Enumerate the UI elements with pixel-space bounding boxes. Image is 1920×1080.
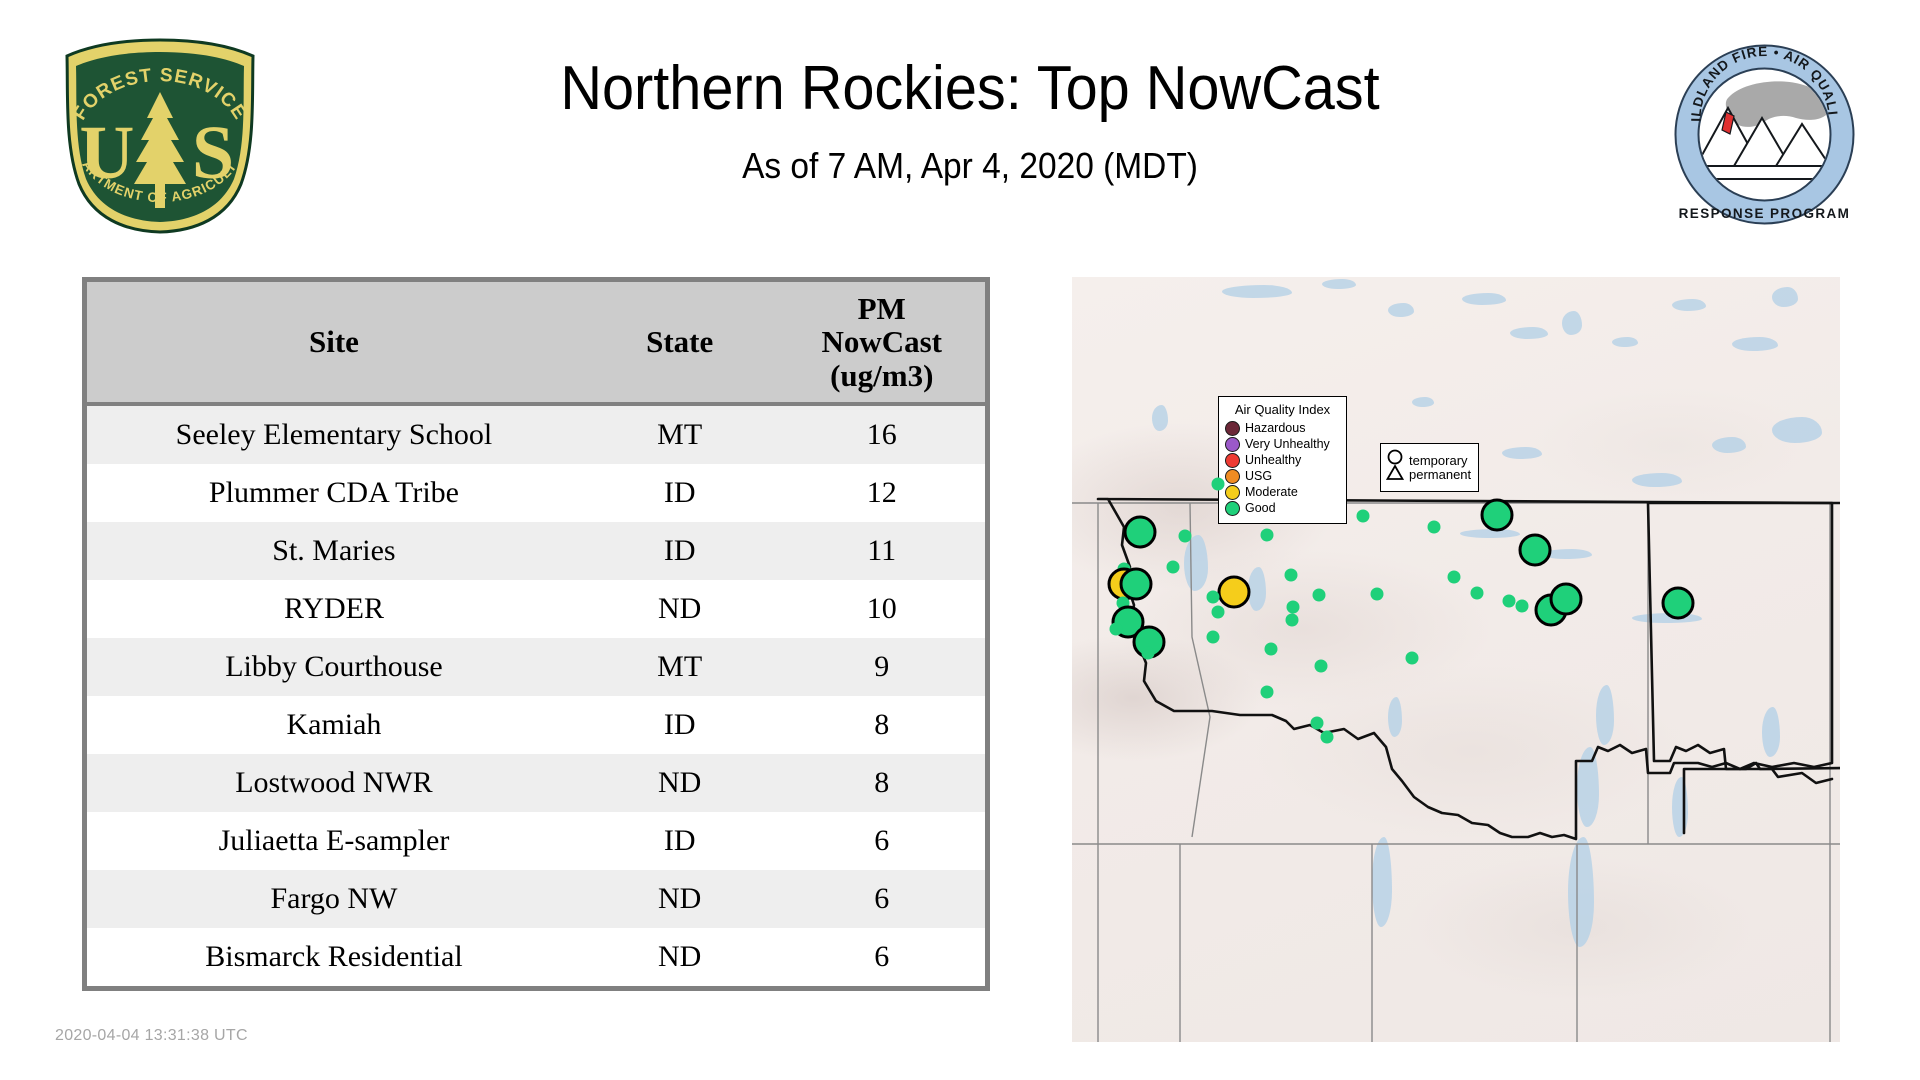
monitor-marker[interactable] bbox=[1212, 478, 1225, 491]
monitor-marker[interactable] bbox=[1448, 571, 1461, 584]
monitor-marker[interactable] bbox=[1261, 529, 1274, 542]
site-type-legend: temporary permanent bbox=[1380, 443, 1479, 492]
aqi-swatch-icon bbox=[1225, 469, 1240, 484]
site-cell: Bismarck Residential bbox=[87, 928, 581, 986]
monitor-marker[interactable] bbox=[1550, 583, 1583, 616]
aqi-legend: Air Quality Index HazardousVery Unhealth… bbox=[1218, 396, 1347, 524]
pm-nowcast-cell: 12 bbox=[778, 464, 985, 522]
monitor-marker[interactable] bbox=[1321, 731, 1334, 744]
table-row[interactable]: RYDERND10 bbox=[87, 580, 985, 638]
state-cell: ND bbox=[581, 928, 779, 986]
monitor-marker[interactable] bbox=[1179, 530, 1192, 543]
table-row[interactable]: Seeley Elementary SchoolMT16 bbox=[87, 404, 985, 464]
aqi-swatch-icon bbox=[1225, 485, 1240, 500]
aqi-legend-label: Moderate bbox=[1245, 485, 1298, 499]
table-row[interactable]: Libby CourthouseMT9 bbox=[87, 638, 985, 696]
monitor-marker[interactable] bbox=[1207, 591, 1220, 604]
column-header-site[interactable]: Site bbox=[87, 282, 581, 404]
site-cell: Lostwood NWR bbox=[87, 754, 581, 812]
aqi-swatch-icon bbox=[1225, 437, 1240, 452]
monitor-marker[interactable] bbox=[1315, 660, 1328, 673]
pm-nowcast-cell: 8 bbox=[778, 696, 985, 754]
table-row[interactable]: Lostwood NWRND8 bbox=[87, 754, 985, 812]
monitor-marker[interactable] bbox=[1519, 534, 1552, 567]
state-cell: ND bbox=[581, 580, 779, 638]
table-header-row: Site State PM NowCast (ug/m3) bbox=[87, 282, 985, 404]
aqi-legend-label: Hazardous bbox=[1245, 421, 1305, 435]
pm-nowcast-cell: 10 bbox=[778, 580, 985, 638]
page-header: FOREST SERVICE DEPARTMENT OF AGRICULTURE… bbox=[0, 0, 1920, 270]
pm-nowcast-cell: 9 bbox=[778, 638, 985, 696]
monitor-marker[interactable] bbox=[1287, 601, 1300, 614]
pm-nowcast-cell: 16 bbox=[778, 404, 985, 464]
table-body: Seeley Elementary SchoolMT16Plummer CDA … bbox=[87, 404, 985, 986]
svg-text:U: U bbox=[80, 111, 135, 195]
site-cell: Juliaetta E-sampler bbox=[87, 812, 581, 870]
table-header: Site State PM NowCast (ug/m3) bbox=[87, 282, 985, 404]
aqi-legend-item: USG bbox=[1225, 468, 1340, 484]
svg-text:S: S bbox=[192, 111, 234, 195]
triangle-outline-icon bbox=[1388, 466, 1403, 479]
aqi-legend-item: Unhealthy bbox=[1225, 452, 1340, 468]
state-cell: ND bbox=[581, 754, 779, 812]
pm-header-line-1: PM bbox=[782, 292, 981, 325]
monitor-marker[interactable] bbox=[1124, 516, 1157, 549]
aqi-legend-rows: HazardousVery UnhealthyUnhealthyUSGModer… bbox=[1225, 420, 1340, 516]
monitor-marker[interactable] bbox=[1481, 499, 1514, 532]
site-cell: St. Maries bbox=[87, 522, 581, 580]
monitor-marker[interactable] bbox=[1120, 568, 1153, 601]
state-boundaries bbox=[1072, 277, 1840, 1042]
monitor-marker[interactable] bbox=[1167, 561, 1180, 574]
state-cell: ID bbox=[581, 812, 779, 870]
monitor-marker[interactable] bbox=[1207, 631, 1220, 644]
aqi-legend-label: USG bbox=[1245, 469, 1272, 483]
monitor-marker[interactable] bbox=[1357, 510, 1370, 523]
pm-nowcast-cell: 6 bbox=[778, 812, 985, 870]
forest-service-shield-icon: FOREST SERVICE DEPARTMENT OF AGRICULTURE… bbox=[55, 36, 265, 236]
aqi-legend-item: Very Unhealthy bbox=[1225, 436, 1340, 452]
pm-nowcast-cell: 11 bbox=[778, 522, 985, 580]
page-subtitle: As of 7 AM, Apr 4, 2020 (MDT) bbox=[328, 145, 1611, 187]
monitor-marker[interactable] bbox=[1662, 587, 1695, 620]
monitor-marker[interactable] bbox=[1142, 647, 1155, 660]
state-cell: ID bbox=[581, 522, 779, 580]
pm-nowcast-cell: 8 bbox=[778, 754, 985, 812]
pm-header-line-3: (ug/m3) bbox=[782, 359, 981, 392]
site-cell: Fargo NW bbox=[87, 870, 581, 928]
aqi-legend-title: Air Quality Index bbox=[1225, 402, 1340, 417]
aqi-swatch-icon bbox=[1225, 453, 1240, 468]
aqi-legend-item: Hazardous bbox=[1225, 420, 1340, 436]
site-cell: Seeley Elementary School bbox=[87, 404, 581, 464]
site-type-labels: temporary permanent bbox=[1409, 454, 1471, 482]
state-cell: MT bbox=[581, 404, 779, 464]
pm-header-line-2: NowCast bbox=[782, 325, 981, 358]
state-cell: ID bbox=[581, 464, 779, 522]
site-type-label-temporary: temporary bbox=[1409, 454, 1471, 468]
site-cell: Libby Courthouse bbox=[87, 638, 581, 696]
monitor-marker[interactable] bbox=[1406, 652, 1419, 665]
aqi-legend-label: Very Unhealthy bbox=[1245, 437, 1330, 451]
table-row[interactable]: Bismarck ResidentialND6 bbox=[87, 928, 985, 986]
monitor-marker[interactable] bbox=[1313, 589, 1326, 602]
svg-text:RESPONSE PROGRAM: RESPONSE PROGRAM bbox=[1679, 206, 1851, 221]
nowcast-table-container: Site State PM NowCast (ug/m3) Seeley Ele… bbox=[82, 277, 990, 991]
state-cell: ND bbox=[581, 870, 779, 928]
page-title: Northern Rockies: Top NowCast bbox=[328, 56, 1611, 121]
nowcast-table: Site State PM NowCast (ug/m3) Seeley Ele… bbox=[87, 282, 985, 986]
table-row[interactable]: KamiahID8 bbox=[87, 696, 985, 754]
site-type-label-permanent: permanent bbox=[1409, 468, 1471, 482]
table-row[interactable]: Plummer CDA TribeID12 bbox=[87, 464, 985, 522]
air-quality-map[interactable]: Air Quality Index HazardousVery Unhealth… bbox=[1072, 277, 1840, 1042]
monitor-marker[interactable] bbox=[1286, 614, 1299, 627]
column-header-state[interactable]: State bbox=[581, 282, 779, 404]
state-cell: ID bbox=[581, 696, 779, 754]
wildland-fire-air-quality-logo: WILDLAND FIRE • AIR QUALITY RESPONSE PRO… bbox=[1672, 42, 1857, 227]
monitor-marker[interactable] bbox=[1265, 643, 1278, 656]
monitor-marker[interactable] bbox=[1212, 606, 1225, 619]
table-row[interactable]: Juliaetta E-samplerID6 bbox=[87, 812, 985, 870]
aqi-legend-label: Good bbox=[1245, 501, 1276, 515]
monitor-marker[interactable] bbox=[1110, 623, 1123, 636]
wfaqrp-seal-icon: WILDLAND FIRE • AIR QUALITY RESPONSE PRO… bbox=[1672, 42, 1857, 227]
table-row[interactable]: St. MariesID11 bbox=[87, 522, 985, 580]
aqi-swatch-icon bbox=[1225, 421, 1240, 436]
site-cell: Kamiah bbox=[87, 696, 581, 754]
monitor-marker[interactable] bbox=[1471, 587, 1484, 600]
footer-timestamp: 2020-04-04 13:31:38 UTC bbox=[55, 1027, 248, 1045]
monitor-marker[interactable] bbox=[1218, 576, 1251, 609]
monitor-marker[interactable] bbox=[1311, 717, 1324, 730]
monitor-marker[interactable] bbox=[1428, 521, 1441, 534]
state-cell: MT bbox=[581, 638, 779, 696]
circle-outline-icon bbox=[1389, 451, 1402, 464]
pm-nowcast-cell: 6 bbox=[778, 870, 985, 928]
site-type-glyphs bbox=[1385, 448, 1405, 487]
aqi-legend-label: Unhealthy bbox=[1245, 453, 1301, 467]
aqi-legend-item: Moderate bbox=[1225, 484, 1340, 500]
site-cell: Plummer CDA Tribe bbox=[87, 464, 581, 522]
monitor-marker[interactable] bbox=[1261, 686, 1274, 699]
monitor-marker[interactable] bbox=[1503, 595, 1516, 608]
aqi-swatch-icon bbox=[1225, 501, 1240, 516]
site-cell: RYDER bbox=[87, 580, 581, 638]
monitor-marker[interactable] bbox=[1371, 588, 1384, 601]
table-row[interactable]: Fargo NWND6 bbox=[87, 870, 985, 928]
pm-nowcast-cell: 6 bbox=[778, 928, 985, 986]
column-header-pm-nowcast[interactable]: PM NowCast (ug/m3) bbox=[778, 282, 985, 404]
monitor-marker[interactable] bbox=[1285, 569, 1298, 582]
usda-forest-service-logo: FOREST SERVICE DEPARTMENT OF AGRICULTURE… bbox=[55, 36, 265, 236]
title-block: Northern Rockies: Top NowCast As of 7 AM… bbox=[280, 56, 1660, 187]
site-type-glyph-icons bbox=[1385, 448, 1405, 482]
monitor-marker[interactable] bbox=[1516, 600, 1529, 613]
aqi-legend-item: Good bbox=[1225, 500, 1340, 516]
